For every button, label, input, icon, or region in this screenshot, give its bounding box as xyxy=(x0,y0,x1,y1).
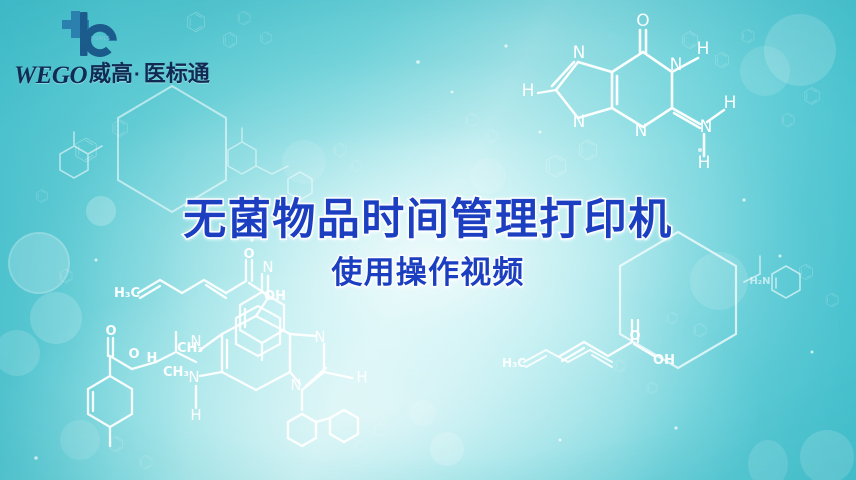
background-vignette xyxy=(0,0,856,480)
video-frame: O N H N N H H N N H xyxy=(0,0,856,480)
